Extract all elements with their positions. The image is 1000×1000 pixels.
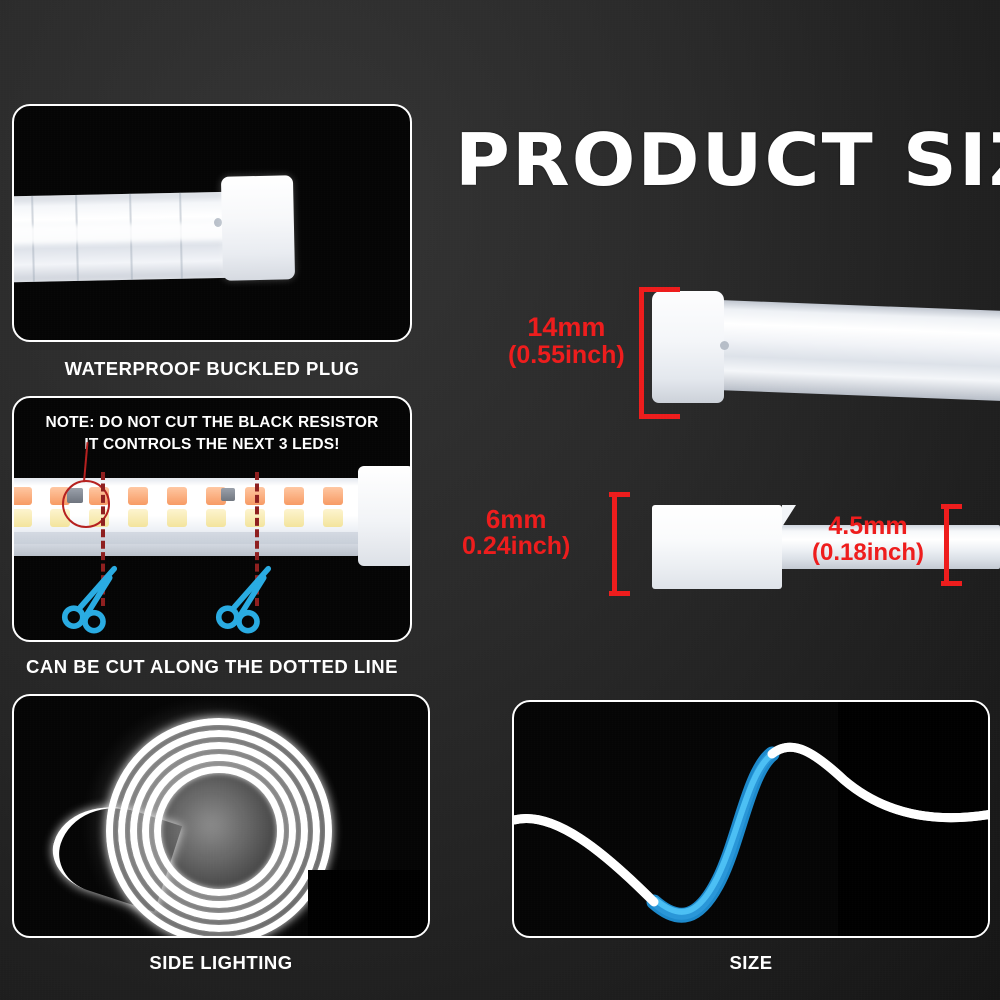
cut-warning-note: NOTE: DO NOT CUT THE BLACK RESISTOR IT C… — [14, 412, 410, 456]
note-line-1: NOTE: DO NOT CUT THE BLACK RESISTOR — [14, 412, 410, 434]
caption-size: SIZE — [512, 952, 990, 974]
dimension-label-4-5mm: 4.5mm (0.18inch) — [812, 513, 924, 566]
caption-waterproof-plug: WATERPROOF BUCKLED PLUG — [12, 358, 412, 380]
dimension-bar-6mm — [612, 497, 617, 591]
panel-dark-corner — [308, 870, 428, 936]
note-line-2: IT CONTROLS THE NEXT 3 LEDS! — [14, 434, 410, 456]
caption-cut-line: CAN BE CUT ALONG THE DOTTED LINE — [12, 656, 412, 678]
dimension-value-inch: (0.18inch) — [812, 540, 924, 566]
strip-end-cap-image — [358, 466, 412, 566]
dimension-label-14mm: 14mm (0.55inch) — [508, 313, 625, 369]
panel-side-lighting — [12, 694, 430, 938]
end-cap-plug-image — [221, 175, 295, 280]
scissors-icon-2 — [212, 562, 284, 634]
page-title: PRODUCT SIZE — [455, 118, 1000, 202]
dimension-value-inch: (0.55inch) — [508, 342, 625, 369]
dimension-label-6mm: 6mm 0.24inch) — [462, 505, 570, 560]
panel-size-flexible — [512, 700, 990, 938]
dimension-value-inch: 0.24inch) — [462, 533, 570, 560]
led-strip-image — [12, 478, 362, 556]
dimension-value-mm: 4.5mm — [812, 513, 924, 540]
dimension-bar-4-5mm — [944, 509, 949, 581]
black-resistor-icon-2 — [221, 488, 235, 501]
panel-waterproof-plug — [12, 104, 412, 342]
caption-side-lighting: SIDE LIGHTING — [12, 952, 430, 974]
dimension-value-mm: 14mm — [508, 313, 625, 342]
dimension-bracket-14mm — [639, 287, 680, 419]
dimension-tube-image-1 — [716, 300, 1000, 401]
silicone-tube-image — [12, 192, 243, 283]
infographic-root: PRODUCT SIZE WATERPROOF BUCKLED PLUG NOT… — [0, 0, 1000, 1000]
plug-notch-icon — [214, 218, 222, 227]
flexible-strip-image — [514, 702, 990, 938]
scissors-icon-1 — [58, 562, 130, 634]
dimension-end-cap-2 — [652, 505, 782, 589]
dimension-notch-dot — [720, 341, 729, 350]
panel-cut-line: NOTE: DO NOT CUT THE BLACK RESISTOR IT C… — [12, 396, 412, 642]
dimension-value-mm: 6mm — [462, 505, 570, 533]
